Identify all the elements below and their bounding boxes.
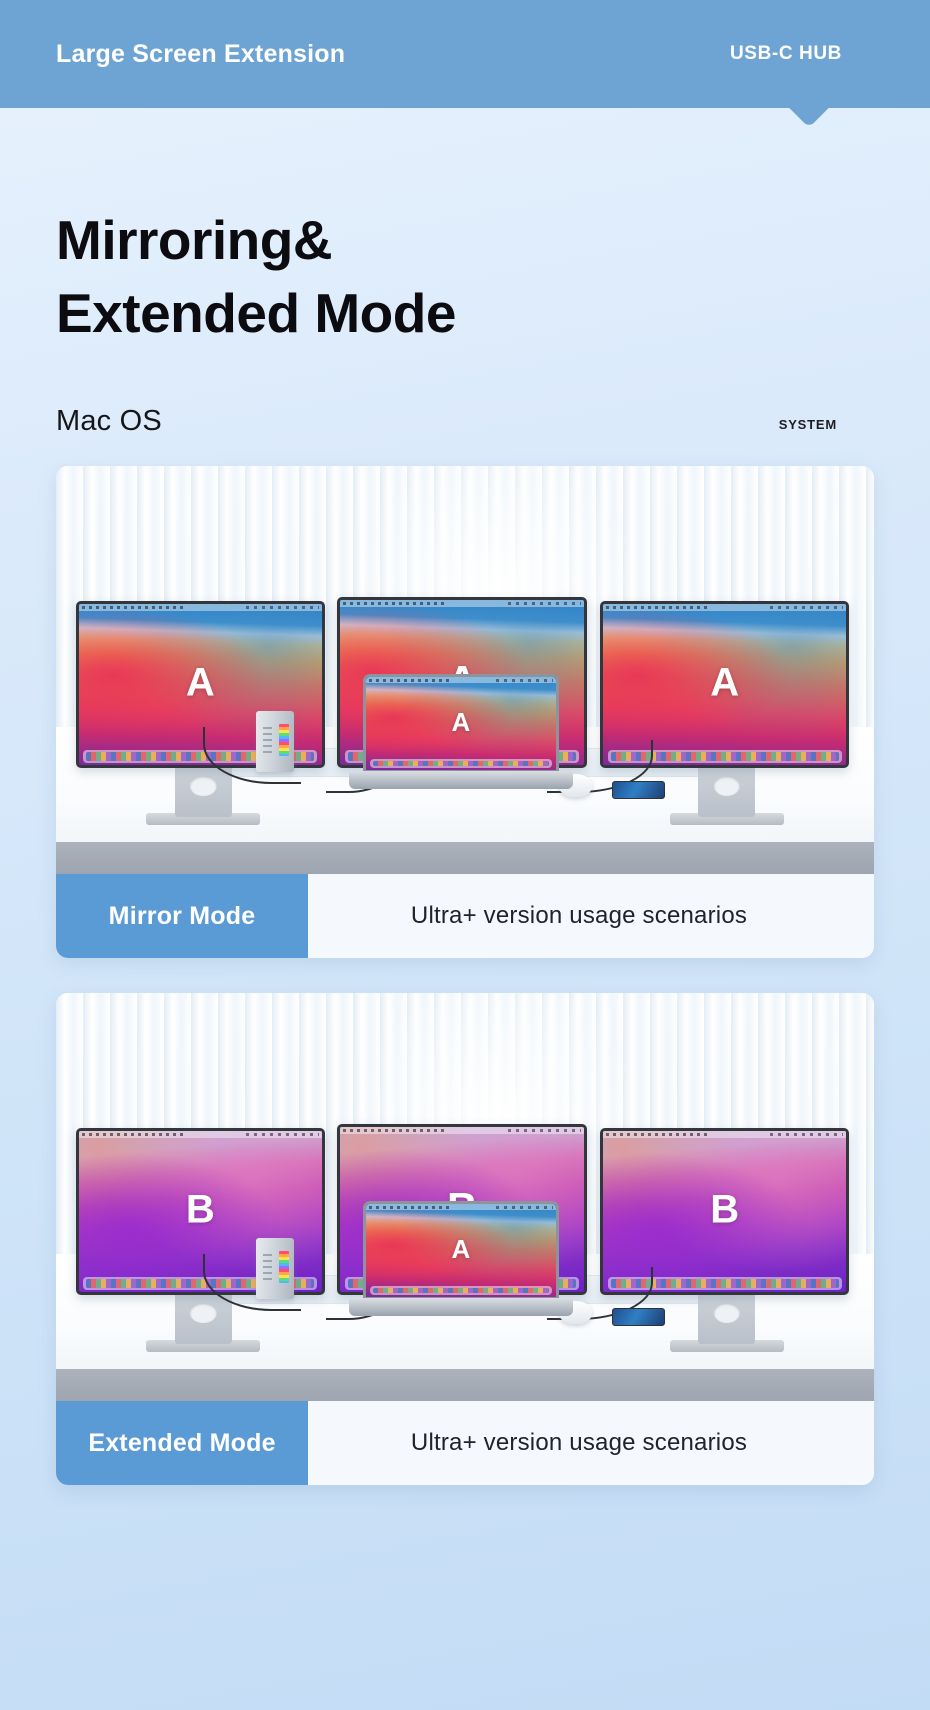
macos-menubar-icon [603,1131,846,1138]
macbook-laptop: A [363,674,559,788]
macos-menubar-icon [603,604,846,611]
laptop-screen: A [363,674,559,772]
macos-dock-icon [370,1286,553,1295]
card-caption-extended: Extended Mode Ultra+ version usage scena… [56,1401,874,1485]
os-label: Mac OS [56,405,162,438]
monitor-stand-right [698,764,755,817]
screen-letter-right: A [603,661,846,706]
laptop-screen: A [363,1201,559,1299]
page-title: Mirroring& Extended Mode [56,204,874,349]
subhead-row: Mac OS SYSTEM [0,349,930,438]
macos-menubar-icon [340,1127,583,1134]
desk-front-edge [56,1369,874,1402]
mode-description-extended: Ultra+ version usage scenarios [308,1401,874,1485]
mode-card-list: A A A A [0,438,930,1485]
laptop-keyboard-base [349,771,573,788]
monitor-stand-right [698,1291,755,1344]
mode-card-mirror: A A A A [56,466,874,958]
usb-c-hub-device [256,1238,294,1299]
screen-letter-laptop: A [366,1234,556,1265]
macos-menubar-icon [340,600,583,607]
screen-letter-laptop: A [366,707,556,738]
hero-heading-line-2: Extended Mode [56,282,456,344]
scene-photo-extended: B B B A [56,993,874,1401]
desk-front-edge [56,842,874,875]
hero-section: Mirroring& Extended Mode [0,108,930,349]
mode-description-mirror: Ultra+ version usage scenarios [308,874,874,958]
mode-card-extended: B B B A [56,993,874,1485]
laptop-keyboard-base [349,1298,573,1315]
scene-photo-mirror: A A A A [56,466,874,874]
card-caption-mirror: Mirror Mode Ultra+ version usage scenari… [56,874,874,958]
macos-menubar-icon [366,1204,556,1210]
screen-letter-left: A [79,661,322,706]
macos-dock-icon [370,759,553,768]
header-notch-marker [787,107,831,125]
macos-menubar-icon [79,604,322,611]
macos-menubar-icon [79,1131,322,1138]
system-label: SYSTEM [779,417,837,432]
screen-letter-left: B [79,1188,322,1233]
macos-menubar-icon [366,677,556,683]
macbook-laptop: A [363,1201,559,1315]
mode-badge-extended[interactable]: Extended Mode [56,1401,308,1485]
phone-device [612,1308,664,1326]
hero-heading-line-1: Mirroring& [56,209,332,271]
header-title: Large Screen Extension [56,40,345,69]
usb-c-hub-device [256,711,294,772]
mode-badge-mirror[interactable]: Mirror Mode [56,874,308,958]
page-header: Large Screen Extension USB-C HUB [0,0,930,108]
screen-letter-right: B [603,1188,846,1233]
header-brand-label: USB-C HUB [730,43,842,65]
phone-device [612,781,664,799]
